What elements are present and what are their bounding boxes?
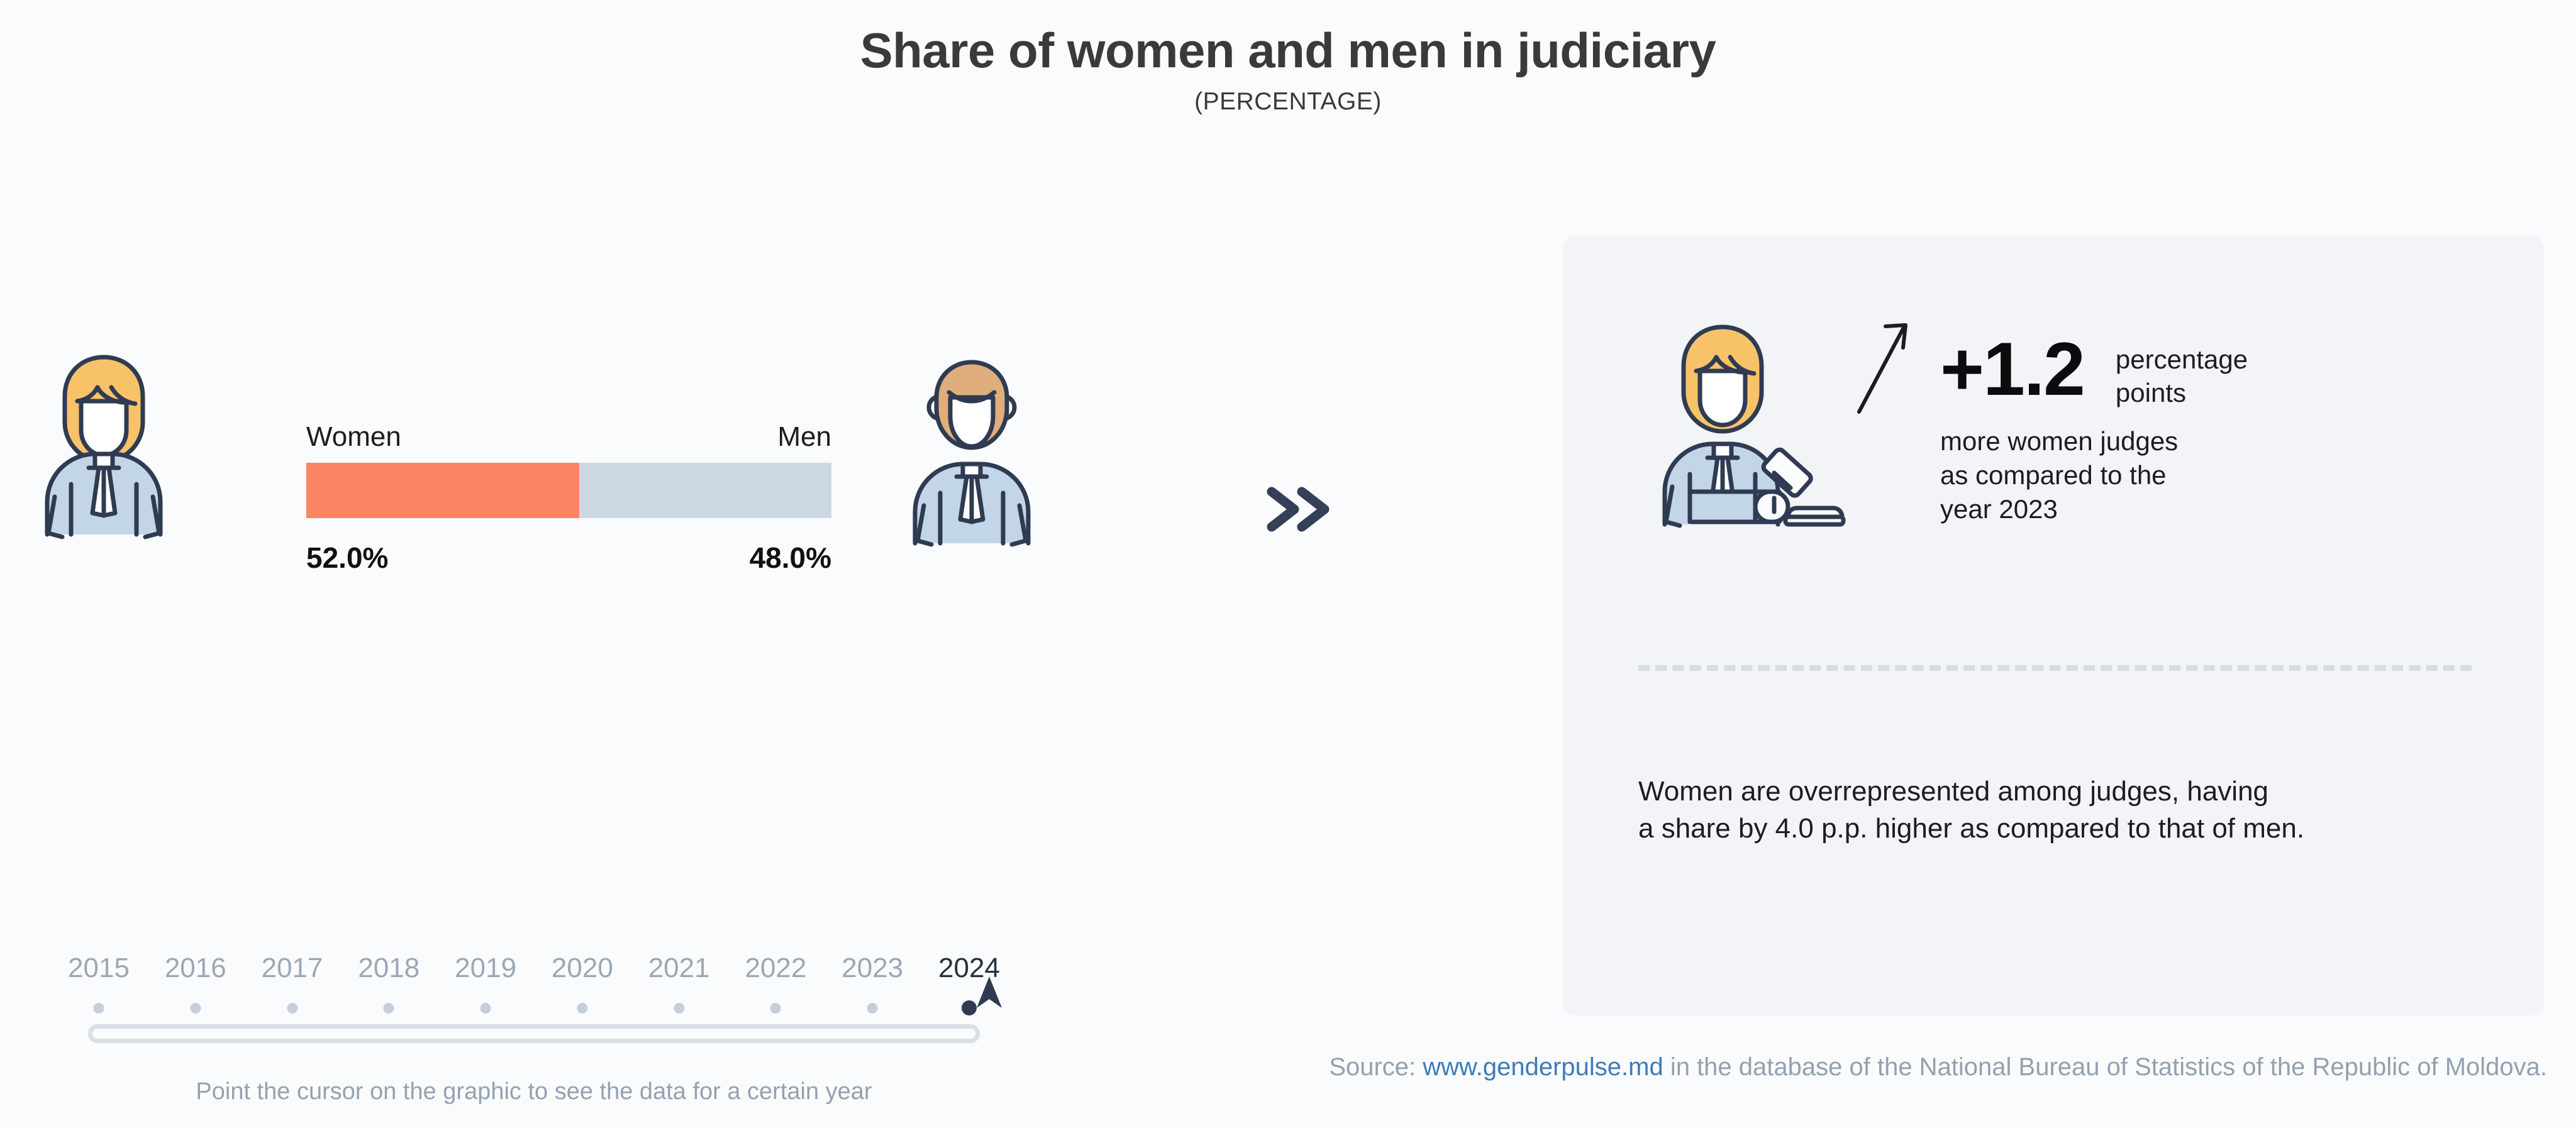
panel-divider [1638,665,2472,671]
bar-label-women: Women [306,421,401,453]
source-footer: Source: www.genderpulse.md in the databa… [0,1053,2547,1081]
delta-callout: +1.2 percentage points [1940,333,2248,409]
year-dot-2015[interactable] [94,1003,104,1014]
judge-with-gavel-icon [1651,308,1846,531]
bar-segment-women[interactable] [306,463,579,518]
bar-label-men: Men [777,421,831,453]
man-judge-icon [896,340,1047,550]
year-dot-2023[interactable] [867,1003,878,1014]
chevron-double-right-icon [1258,478,1333,544]
year-label-2015[interactable]: 2015 [68,953,130,984]
delta-desc-line1: more women judges [1940,424,2178,458]
year-labels[interactable]: 2015201620172018201920202021202220232024 [88,953,1006,990]
bar-value-men: 48.0% [750,541,831,575]
insight-note-line1: Women are overrepresented among judges, … [1638,773,2304,810]
delta-description: more women judges as compared to the yea… [1940,424,2178,526]
year-label-2016[interactable]: 2016 [165,953,226,984]
timeline-cursor-icon[interactable] [973,971,1006,1010]
page-header: Share of women and men in judiciary (PER… [0,25,2576,116]
year-dot-2021[interactable] [674,1003,684,1014]
year-timeline[interactable]: 2015201620172018201920202021202220232024… [88,953,1006,1043]
year-label-2017[interactable]: 2017 [262,953,323,984]
bar-value-women: 52.0% [306,541,388,575]
year-label-2020[interactable]: 2020 [552,953,613,984]
trend-up-arrow-icon [1849,318,1918,421]
delta-unit-line1: percentage [2116,343,2248,377]
share-bar-chart: Women Men 52.0% 48.0% [306,421,831,582]
page-subtitle: (PERCENTAGE) [0,88,2576,116]
bar-segment-men[interactable] [579,463,831,518]
bar-track[interactable] [306,463,831,518]
timeline-rail[interactable] [88,1024,980,1043]
woman-judge-icon [28,327,179,544]
delta-desc-line2: as compared to the [1940,458,2178,492]
delta-desc-line3: year 2023 [1940,492,2178,526]
chart-panel: Women Men 52.0% 48.0% [0,214,1509,956]
insight-note-line2: a share by 4.0 p.p. higher as compared t… [1638,810,2304,848]
source-suffix: in the database of the National Bureau o… [1663,1053,2547,1081]
year-dot-2019[interactable] [480,1003,491,1014]
delta-unit-line2: points [2116,377,2248,410]
year-label-2019[interactable]: 2019 [455,953,516,984]
timeline-hint: Point the cursor on the graphic to see t… [88,1078,980,1105]
year-dot-2017[interactable] [287,1003,297,1014]
year-label-2022[interactable]: 2022 [745,953,806,984]
year-dots[interactable] [88,1000,1006,1022]
bar-value-labels: 52.0% 48.0% [306,541,831,582]
delta-unit: percentage points [2116,343,2248,409]
source-link[interactable]: www.genderpulse.md [1423,1053,1663,1081]
year-label-2021[interactable]: 2021 [648,953,710,984]
year-dot-2018[interactable] [384,1003,394,1014]
source-prefix: Source: [1329,1053,1423,1081]
year-dot-2020[interactable] [577,1003,587,1014]
year-label-2018[interactable]: 2018 [358,953,419,984]
bar-category-labels: Women Men [306,421,831,463]
year-dot-2016[interactable] [190,1003,201,1014]
page-title: Share of women and men in judiciary [0,25,2576,77]
insight-note: Women are overrepresented among judges, … [1638,773,2304,848]
year-dot-2022[interactable] [770,1003,781,1014]
delta-value: +1.2 [1940,333,2084,405]
insight-panel: +1.2 percentage points more women judges… [1563,236,2544,1015]
year-label-2023[interactable]: 2023 [841,953,903,984]
